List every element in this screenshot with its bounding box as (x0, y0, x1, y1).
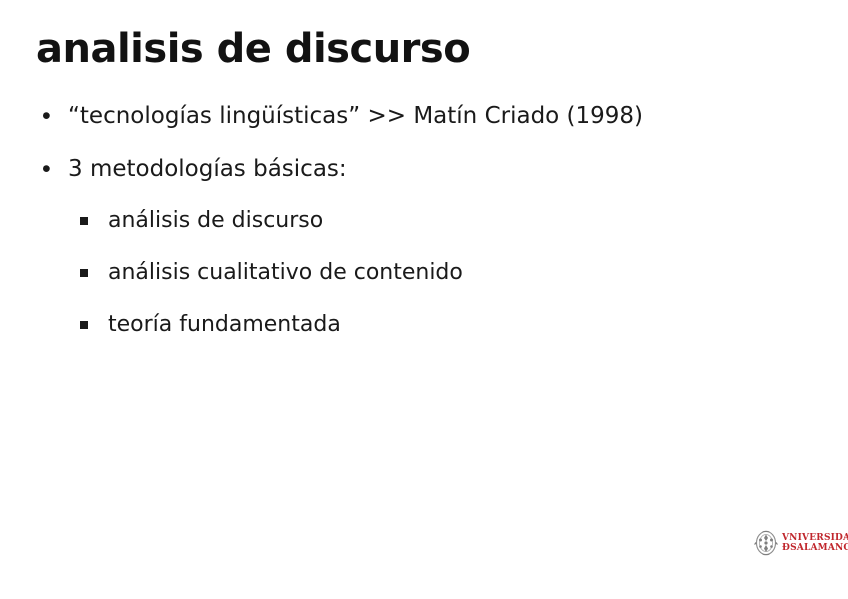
list-item: análisis cualitativo de contenido (80, 258, 806, 288)
bullet-dot-icon: • (36, 100, 68, 132)
list-item: teoría fundamentada (80, 310, 806, 340)
logo-line-2: ÐSALAMANCA (782, 543, 848, 553)
university-seal-icon (753, 529, 779, 557)
list-item-label: “tecnologías lingüísticas” >> Matín Cria… (68, 100, 643, 132)
list-item: análisis de discurso (80, 206, 806, 236)
list-item: • “tecnologías lingüísticas” >> Matín Cr… (36, 100, 806, 132)
list-item-label: análisis de discurso (108, 206, 323, 236)
slide: analisis de discurso • “tecnologías ling… (0, 0, 848, 599)
list-item-label: 3 metodologías básicas: (68, 153, 347, 185)
bullet-square-icon (80, 310, 108, 340)
bullet-list: • “tecnologías lingüísticas” >> Matín Cr… (36, 100, 806, 362)
logo-wordmark: VNIVERSIDAD ÐSALAMANCA (782, 533, 848, 553)
logo-line-1: VNIVERSIDAD (782, 533, 848, 543)
bullet-square-icon (80, 206, 108, 236)
bullet-dot-icon: • (36, 153, 68, 185)
list-item-label: teoría fundamentada (108, 310, 341, 340)
list-item-label: análisis cualitativo de contenido (108, 258, 463, 288)
list-item: • 3 metodologías básicas: (36, 153, 806, 185)
page-title: analisis de discurso (36, 26, 470, 72)
bullet-square-icon (80, 258, 108, 288)
universidad-de-salamanca-logo: VNIVERSIDAD ÐSALAMANCA (753, 527, 845, 559)
